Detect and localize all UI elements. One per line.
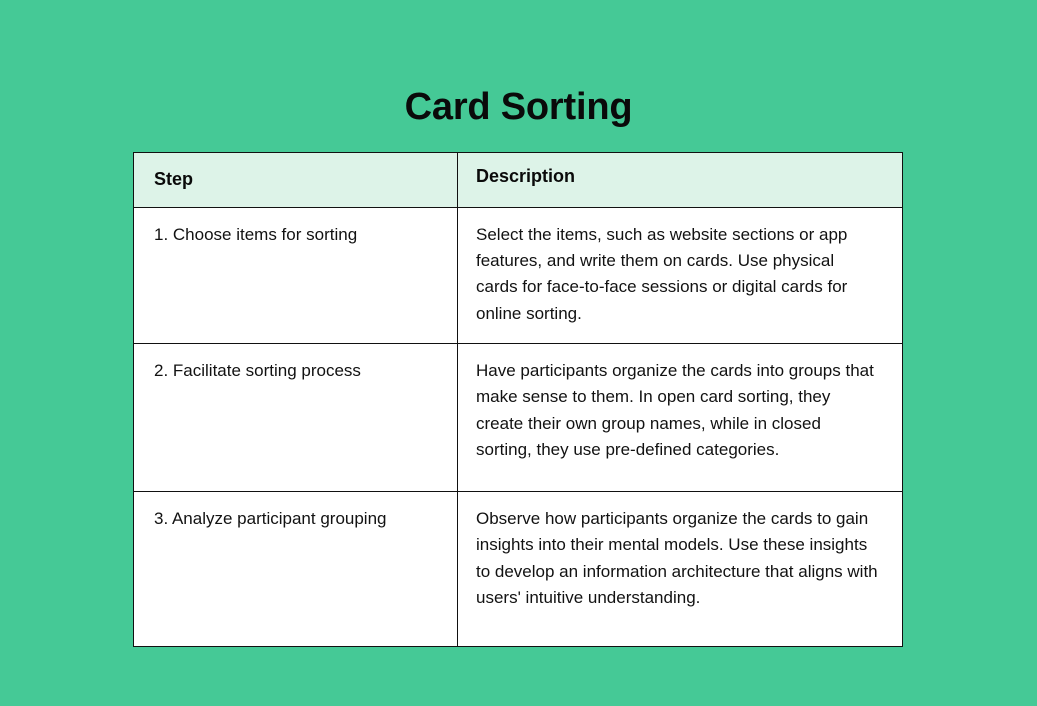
- table-row: 1. Choose items for sorting Select the i…: [134, 207, 903, 343]
- cell-description-3: Observe how participants organize the ca…: [458, 491, 903, 646]
- cell-step-2: 2. Facilitate sorting process: [134, 343, 458, 491]
- card-sorting-steps-table: Step Description 1. Choose items for sor…: [133, 152, 903, 647]
- steps-table-container: Step Description 1. Choose items for sor…: [133, 152, 902, 647]
- table-row: 2. Facilitate sorting process Have parti…: [134, 343, 903, 491]
- page-title: Card Sorting: [0, 87, 1037, 129]
- cell-step-1: 1. Choose items for sorting: [134, 207, 458, 343]
- cell-description-2: Have participants organize the cards int…: [458, 343, 903, 491]
- table-header-row: Step Description: [134, 153, 903, 208]
- table-body: 1. Choose items for sorting Select the i…: [134, 207, 903, 646]
- page-root: Card Sorting Step Description 1. Choose …: [0, 0, 1037, 706]
- column-header-description: Description: [458, 153, 903, 208]
- table-row: 3. Analyze participant grouping Observe …: [134, 491, 903, 646]
- column-header-step: Step: [134, 153, 458, 208]
- table-header: Step Description: [134, 153, 903, 208]
- cell-description-1: Select the items, such as website sectio…: [458, 207, 903, 343]
- cell-step-3: 3. Analyze participant grouping: [134, 491, 458, 646]
